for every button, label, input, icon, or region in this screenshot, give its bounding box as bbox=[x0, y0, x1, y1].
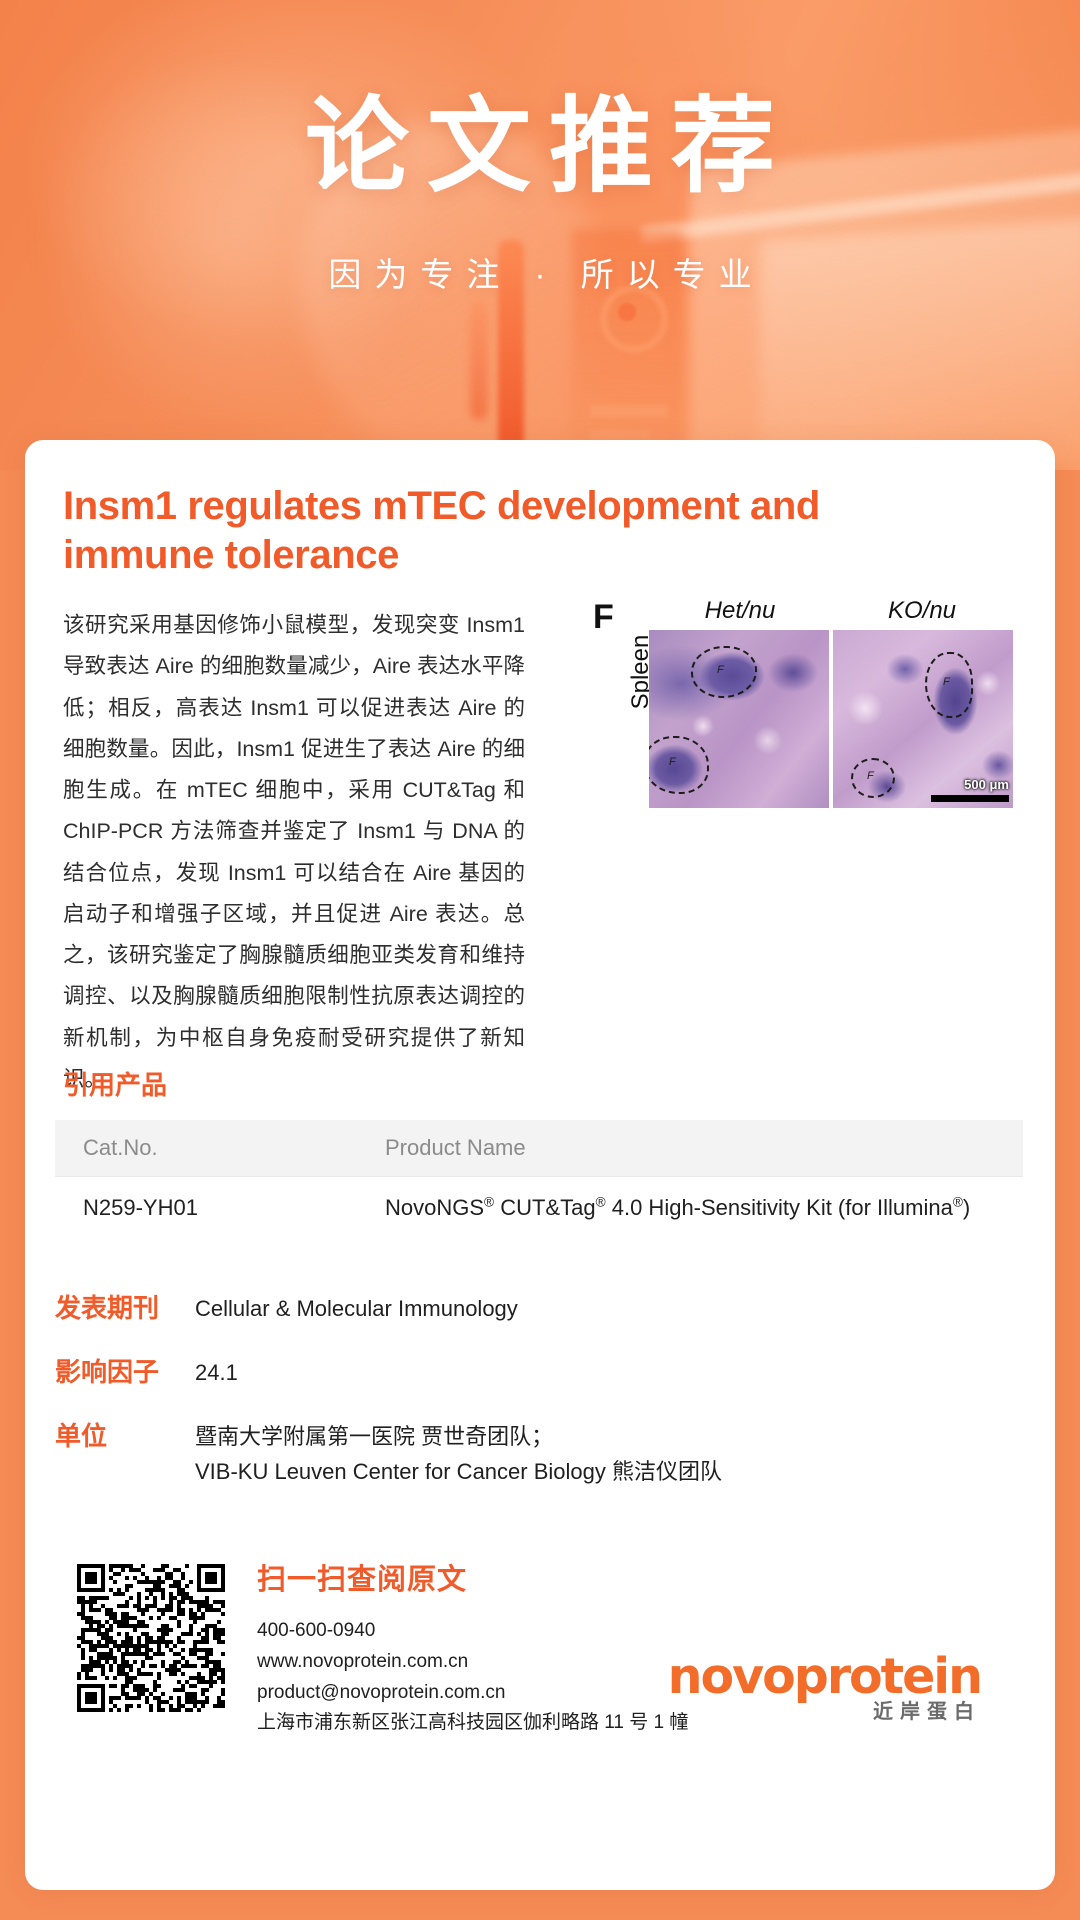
figure-panel: F Spleen Het/nu KO/nu F F F F 500 μm bbox=[593, 598, 1013, 813]
products-table-header: Cat.No. Product Name bbox=[55, 1120, 1023, 1176]
figure-scale-bar bbox=[931, 795, 1009, 802]
products-section-title: 引用产品 bbox=[63, 1072, 167, 1098]
contact-info: 400-600-0940 www.novoprotein.com.cn prod… bbox=[257, 1616, 688, 1739]
poster-root: 论文推荐 因为专注 · 所以专业 Insm1 regulates mTEC de… bbox=[0, 0, 1080, 1920]
figure-image-het: F F bbox=[649, 630, 829, 808]
column-header-product-name: Product Name bbox=[385, 1135, 1023, 1161]
figure-images: F F F F 500 μm bbox=[649, 630, 1013, 808]
logo-chinese-name: 近岸蛋白 bbox=[668, 1702, 981, 1722]
qr-code-icon[interactable] bbox=[77, 1564, 225, 1712]
meta-label-journal: 发表期刊 bbox=[55, 1292, 195, 1326]
figure-column-het: Het/nu bbox=[649, 598, 831, 624]
banner-title: 论文推荐 bbox=[0, 95, 1080, 199]
card-footer: 扫一扫查阅原文 400-600-0940 www.novoprotein.com… bbox=[55, 1558, 1015, 1748]
affiliation-line-1: 暨南大学附属第一医院 贾世奇团队； bbox=[195, 1420, 1015, 1453]
figure-region-label: F bbox=[669, 756, 676, 768]
meta-label-impact-factor: 影响因子 bbox=[55, 1356, 195, 1390]
figure-image-ko: F F 500 μm bbox=[833, 630, 1013, 808]
meta-row-affiliation: 单位 暨南大学附属第一医院 贾世奇团队； VIB-KU Leuven Cente… bbox=[55, 1420, 1015, 1490]
meta-value-affiliation: 暨南大学附属第一医院 贾世奇团队； VIB-KU Leuven Center f… bbox=[195, 1420, 1015, 1490]
column-header-cat-no: Cat.No. bbox=[55, 1135, 385, 1161]
meta-row-journal: 发表期刊 Cellular & Molecular Immunology bbox=[55, 1292, 1015, 1326]
paper-abstract: 该研究采用基因修饰小鼠模型，发现突变 Insm1 导致表达 Aire 的细胞数量… bbox=[63, 605, 525, 1100]
table-row: N259-YH01 NovoNGS® CUT&Tag® 4.0 High-Sen… bbox=[55, 1176, 1023, 1239]
publication-meta: 发表期刊 Cellular & Molecular Immunology 影响因… bbox=[55, 1292, 1015, 1520]
figure-panel-letter: F bbox=[593, 600, 614, 634]
company-logo: novoprotein 近岸蛋白 bbox=[668, 1653, 981, 1722]
scan-cta-title: 扫一扫查阅原文 bbox=[257, 1566, 467, 1595]
contact-website[interactable]: www.novoprotein.com.cn bbox=[257, 1647, 688, 1678]
contact-phone: 400-600-0940 bbox=[257, 1616, 688, 1647]
meta-value-journal: Cellular & Molecular Immunology bbox=[195, 1292, 1015, 1326]
figure-column-ko: KO/nu bbox=[831, 598, 1013, 624]
cell-cat-no: N259-YH01 bbox=[55, 1195, 385, 1221]
figure-region-label: F bbox=[717, 664, 724, 676]
products-table: Cat.No. Product Name N259-YH01 NovoNGS® … bbox=[55, 1120, 1023, 1239]
figure-region-label: F bbox=[867, 770, 874, 782]
meta-label-affiliation: 单位 bbox=[55, 1420, 195, 1490]
content-card: Insm1 regulates mTEC development and imm… bbox=[25, 440, 1055, 1890]
header-banner: 论文推荐 因为专注 · 所以专业 bbox=[0, 0, 1080, 470]
figure-scale-bar-label: 500 μm bbox=[964, 777, 1009, 792]
banner-photo-blur bbox=[0, 0, 1080, 470]
meta-value-impact-factor: 24.1 bbox=[195, 1356, 1015, 1390]
cell-product-name: NovoNGS® CUT&Tag® 4.0 High-Sensitivity K… bbox=[385, 1182, 1023, 1234]
logo-wordmark: novoprotein bbox=[668, 1653, 981, 1700]
paper-title: Insm1 regulates mTEC development and imm… bbox=[63, 482, 963, 580]
figure-column-headers: Het/nu KO/nu bbox=[649, 598, 1013, 624]
banner-subtitle: 因为专注 · 所以专业 bbox=[0, 258, 1080, 291]
affiliation-line-2: VIB-KU Leuven Center for Cancer Biology … bbox=[195, 1455, 1015, 1488]
figure-region-label: F bbox=[943, 676, 950, 688]
contact-address: 上海市浦东新区张江高科技园区伽利略路 11 号 1 幢 bbox=[257, 1708, 688, 1739]
contact-email[interactable]: product@novoprotein.com.cn bbox=[257, 1678, 688, 1709]
meta-row-impact-factor: 影响因子 24.1 bbox=[55, 1356, 1015, 1390]
